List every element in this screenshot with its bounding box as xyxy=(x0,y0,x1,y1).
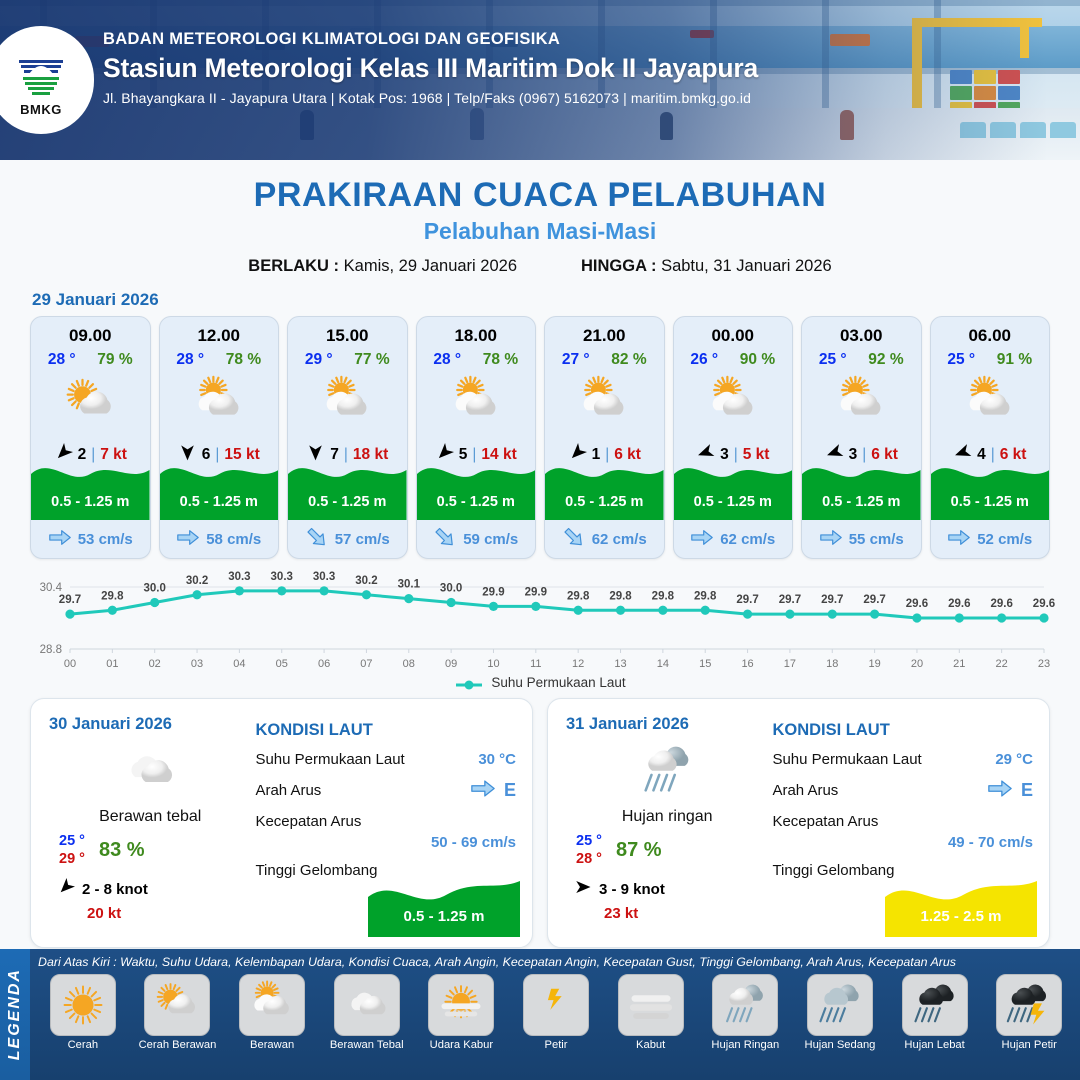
day-temp-range: 25 ° 29 ° xyxy=(59,832,85,868)
svg-text:30.3: 30.3 xyxy=(228,571,250,583)
station-address: Jl. Bhayangkara II - Jayapura Utara | Ko… xyxy=(103,90,758,106)
card-time: 21.00 xyxy=(545,326,664,346)
sst-chart: 30.428.800010203040506070809101112131415… xyxy=(22,571,1058,671)
day-humidity: 87 % xyxy=(616,839,662,862)
current-direction-row: Arah Arus E xyxy=(255,779,516,802)
legend-item: Berawan Tebal xyxy=(322,974,412,1051)
header-text-block: BADAN METEOROLOGI KLIMATOLOGI DAN GEOFIS… xyxy=(103,30,758,106)
svg-text:30.2: 30.2 xyxy=(186,575,208,587)
card-current-row: 53 cm/s xyxy=(31,529,150,550)
sst-row: Suhu Permukaan Laut 29 °C xyxy=(772,751,1033,768)
current-direction-label: Arah Arus xyxy=(255,782,321,799)
legend-item: Hujan Lebat xyxy=(890,974,980,1051)
validity-row: BERLAKU : Kamis, 29 Januari 2026 HINGGA … xyxy=(0,257,1080,276)
card-temp-humidity: 26 ° 90 % xyxy=(674,351,793,369)
svg-text:29.6: 29.6 xyxy=(948,598,970,610)
svg-text:10: 10 xyxy=(487,658,499,670)
card-temp-humidity: 28 ° 78 % xyxy=(160,351,279,369)
legend-item: Cerah Berawan xyxy=(133,974,223,1051)
svg-text:08: 08 xyxy=(403,658,415,670)
card-temperature: 25 ° xyxy=(947,351,975,369)
sst-row: Suhu Permukaan Laut 30 °C xyxy=(255,751,516,768)
legend-icon-cerah-icon xyxy=(50,974,116,1036)
card-current-speed: 62 cm/s xyxy=(720,531,775,548)
day-temp-row: 25 ° 29 ° 83 % xyxy=(49,832,251,868)
day-gust: 23 kt xyxy=(566,905,768,922)
day-wind-row: 2 - 8 knot xyxy=(49,878,251,900)
day-sea-conditions: KONDISI LAUT Suhu Permukaan Laut 29 °C A… xyxy=(768,699,1049,947)
card-current-row: 58 cm/s xyxy=(160,529,279,550)
legend-icon-hujan-ringan-icon xyxy=(712,974,778,1036)
agency-name: BADAN METEOROLOGI KLIMATOLOGI DAN GEOFIS… xyxy=(103,30,758,49)
current-speed-label: Kecepatan Arus xyxy=(255,813,361,830)
svg-text:00: 00 xyxy=(64,658,76,670)
card-humidity: 77 % xyxy=(354,351,389,369)
forecast-card: 12.00 28 ° 78 % 6 | 15 kt 0.5 - 1.25 m 5… xyxy=(159,316,280,559)
current-direction-arrow-icon xyxy=(433,529,457,550)
legend-icon-kabut-icon xyxy=(618,974,684,1036)
card-temperature: 28 ° xyxy=(176,351,204,369)
legend-bar: LEGENDA Dari Atas Kiri : Waktu, Suhu Uda… xyxy=(0,949,1080,1080)
sst-value: 30 °C xyxy=(478,751,516,768)
card-current-row: 62 cm/s xyxy=(674,529,793,550)
forecast-card: 21.00 27 ° 82 % 1 | 6 kt 0.5 - 1.25 m 62… xyxy=(544,316,665,559)
card-wave-height: 0.5 - 1.25 m xyxy=(31,494,150,510)
forecast-card: 00.00 26 ° 90 % 3 | 5 kt 0.5 - 1.25 m 62… xyxy=(673,316,794,559)
legend-item-label: Udara Kabur xyxy=(430,1039,493,1051)
card-humidity: 78 % xyxy=(483,351,518,369)
card-temp-humidity: 28 ° 79 % xyxy=(31,351,150,369)
current-direction-row: Arah Arus E xyxy=(772,779,1033,802)
card-current-speed: 53 cm/s xyxy=(78,531,133,548)
port-name: Pelabuhan Masi-Masi xyxy=(0,218,1080,245)
day-gust: 20 kt xyxy=(49,905,251,922)
card-time: 03.00 xyxy=(802,326,921,346)
day-wave-graphic: 1.25 - 2.5 m xyxy=(885,871,1037,937)
legend-item-label: Cerah Berawan xyxy=(139,1039,217,1051)
svg-text:11: 11 xyxy=(530,658,541,670)
legend-item-label: Berawan xyxy=(250,1039,294,1051)
legend-item-label: Hujan Sedang xyxy=(804,1039,875,1051)
forecast-card: 09.00 28 ° 79 % 2 | 7 kt 0.5 - 1.25 m 53… xyxy=(30,316,151,559)
svg-text:18: 18 xyxy=(826,658,838,670)
card-temperature: 25 ° xyxy=(819,351,847,369)
card-time: 15.00 xyxy=(288,326,407,346)
legend-icon-petir-icon xyxy=(523,974,589,1036)
current-direction-arrow-icon xyxy=(947,529,971,550)
svg-text:01: 01 xyxy=(106,658,118,670)
card-temp-humidity: 28 ° 78 % xyxy=(417,351,536,369)
card-time: 09.00 xyxy=(31,326,150,346)
current-speed-value: 50 - 69 cm/s xyxy=(255,834,516,851)
day-weather-icon xyxy=(566,740,768,802)
station-name: Stasiun Meteorologi Kelas III Maritim Do… xyxy=(103,53,758,84)
valid-until-value: Sabtu, 31 Januari 2026 xyxy=(661,257,832,275)
svg-text:30.3: 30.3 xyxy=(313,571,335,583)
chart-legend-label: Suhu Permukaan Laut xyxy=(491,675,625,690)
svg-text:07: 07 xyxy=(360,658,372,670)
forecast-card: 03.00 25 ° 92 % 3 | 6 kt 0.5 - 1.25 m 55… xyxy=(801,316,922,559)
day-wave-height: 0.5 - 1.25 m xyxy=(368,908,520,925)
bmkg-logo-mark xyxy=(13,44,69,100)
card-temperature: 26 ° xyxy=(690,351,718,369)
card-humidity: 90 % xyxy=(740,351,775,369)
forecast-card: 06.00 25 ° 91 % 4 | 6 kt 0.5 - 1.25 m 52… xyxy=(930,316,1051,559)
card-temp-humidity: 25 ° 92 % xyxy=(802,351,921,369)
card-weather-icon xyxy=(417,373,536,435)
svg-text:23: 23 xyxy=(1038,658,1050,670)
wind-direction-arrow-icon xyxy=(574,878,592,900)
svg-text:30.2: 30.2 xyxy=(355,575,377,587)
svg-text:29.9: 29.9 xyxy=(482,586,504,598)
card-wave-height: 0.5 - 1.25 m xyxy=(417,494,536,510)
legend-tab-label: LEGENDA xyxy=(6,968,24,1060)
svg-text:30.3: 30.3 xyxy=(271,571,293,583)
legend-icon-berawan-tebal-icon xyxy=(334,974,400,1036)
valid-until-label: HINGGA : xyxy=(581,257,656,275)
svg-text:21: 21 xyxy=(953,658,965,670)
svg-text:06: 06 xyxy=(318,658,330,670)
svg-text:12: 12 xyxy=(572,658,584,670)
legend-caption: Dari Atas Kiri : Waktu, Suhu Udara, Kele… xyxy=(38,955,1074,969)
svg-text:29.8: 29.8 xyxy=(567,590,590,602)
card-temperature: 28 ° xyxy=(433,351,461,369)
current-speed-value: 49 - 70 cm/s xyxy=(772,834,1033,851)
card-weather-icon xyxy=(288,373,407,435)
forecast-card: 15.00 29 ° 77 % 7 | 18 kt 0.5 - 1.25 m 5… xyxy=(287,316,408,559)
current-direction-arrow-icon xyxy=(562,529,586,550)
chart-legend-marker xyxy=(454,678,484,688)
card-current-speed: 58 cm/s xyxy=(206,531,261,548)
legend-icon-cerah-berawan-icon xyxy=(144,974,210,1036)
card-wave-height: 0.5 - 1.25 m xyxy=(802,494,921,510)
legend-icon-hujan-lebat-icon xyxy=(902,974,968,1036)
sst-label: Suhu Permukaan Laut xyxy=(255,751,404,768)
legend-item-label: Hujan Petir xyxy=(1002,1039,1057,1051)
legend-item-label: Hujan Ringan xyxy=(711,1039,779,1051)
card-current-row: 57 cm/s xyxy=(288,529,407,550)
current-direction-value: E xyxy=(504,780,516,801)
legend-item-label: Cerah xyxy=(68,1039,98,1051)
legend-item-label: Kabut xyxy=(636,1039,665,1051)
card-weather-icon xyxy=(802,373,921,435)
svg-text:17: 17 xyxy=(784,658,796,670)
card-weather-icon xyxy=(160,373,279,435)
card-wave-height: 0.5 - 1.25 m xyxy=(545,494,664,510)
svg-text:29.9: 29.9 xyxy=(525,586,547,598)
card-weather-icon xyxy=(674,373,793,435)
chart-legend: Suhu Permukaan Laut xyxy=(0,675,1080,690)
current-direction-arrow-icon xyxy=(305,529,329,550)
svg-text:29.8: 29.8 xyxy=(652,590,675,602)
svg-text:04: 04 xyxy=(233,658,245,670)
day-temp-min: 25 ° xyxy=(576,832,602,850)
day-temp-range: 25 ° 28 ° xyxy=(576,832,602,868)
card-weather-icon xyxy=(545,373,664,435)
svg-text:03: 03 xyxy=(191,658,203,670)
legend-icon-berawan-icon xyxy=(239,974,305,1036)
day-humidity: 83 % xyxy=(99,839,145,862)
card-time: 18.00 xyxy=(417,326,536,346)
day-condition: Hujan ringan xyxy=(566,808,768,826)
legend-tab: LEGENDA xyxy=(0,949,30,1080)
svg-text:05: 05 xyxy=(276,658,288,670)
day-left-column: 30 Januari 2026 Berawan tebal 25 ° 29 ° … xyxy=(31,699,251,947)
current-direction-arrow-icon xyxy=(690,529,714,550)
wave-height-label: Tinggi Gelombang xyxy=(255,862,377,879)
svg-text:29.7: 29.7 xyxy=(736,594,758,606)
legend-item: Cerah xyxy=(38,974,128,1051)
daily-summary-card: 30 Januari 2026 Berawan tebal 25 ° 29 ° … xyxy=(30,698,533,948)
valid-until: HINGGA : Sabtu, 31 Januari 2026 xyxy=(581,257,832,276)
card-humidity: 79 % xyxy=(97,351,132,369)
svg-text:29.7: 29.7 xyxy=(863,594,885,606)
legend-item: Petir xyxy=(511,974,601,1051)
card-wave-height: 0.5 - 1.25 m xyxy=(931,494,1050,510)
sea-conditions-title: KONDISI LAUT xyxy=(255,721,516,740)
wind-direction-arrow-icon xyxy=(57,878,75,900)
sea-conditions-title: KONDISI LAUT xyxy=(772,721,1033,740)
svg-text:16: 16 xyxy=(741,658,753,670)
svg-text:29.8: 29.8 xyxy=(694,590,717,602)
page-header: BMKG BADAN METEOROLOGI KLIMATOLOGI DAN G… xyxy=(0,0,1080,160)
svg-text:29.6: 29.6 xyxy=(990,598,1012,610)
card-current-row: 52 cm/s xyxy=(931,529,1050,550)
current-speed-row: Kecepatan Arus xyxy=(772,813,1033,830)
page-title: PRAKIRAAN CUACA PELABUHAN xyxy=(0,176,1080,215)
card-temp-humidity: 29 ° 77 % xyxy=(288,351,407,369)
legend-body: Dari Atas Kiri : Waktu, Suhu Udara, Kele… xyxy=(30,949,1080,1080)
card-current-row: 62 cm/s xyxy=(545,529,664,550)
current-direction-value-group: E xyxy=(987,779,1033,802)
card-current-speed: 62 cm/s xyxy=(592,531,647,548)
card-humidity: 92 % xyxy=(868,351,903,369)
card-temperature: 28 ° xyxy=(48,351,76,369)
day-wind-range: 2 - 8 knot xyxy=(82,881,148,898)
day-weather-icon xyxy=(49,740,251,802)
svg-text:15: 15 xyxy=(699,658,711,670)
current-speed-label: Kecepatan Arus xyxy=(772,813,878,830)
card-time: 06.00 xyxy=(931,326,1050,346)
day-condition: Berawan tebal xyxy=(49,808,251,826)
day-wave-height: 1.25 - 2.5 m xyxy=(885,908,1037,925)
card-humidity: 78 % xyxy=(226,351,261,369)
svg-text:13: 13 xyxy=(614,658,626,670)
current-direction-arrow-icon xyxy=(48,529,72,550)
day-temp-row: 25 ° 28 ° 87 % xyxy=(566,832,768,868)
legend-icon-hujan-petir-icon xyxy=(996,974,1062,1036)
current-direction-arrow-icon xyxy=(176,529,200,550)
forecast-card-list: 09.00 28 ° 79 % 2 | 7 kt 0.5 - 1.25 m 53… xyxy=(0,316,1080,559)
svg-text:29.6: 29.6 xyxy=(1033,598,1055,610)
svg-text:30.0: 30.0 xyxy=(144,583,166,595)
card-temperature: 29 ° xyxy=(305,351,333,369)
svg-text:20: 20 xyxy=(911,658,923,670)
valid-from-label: BERLAKU : xyxy=(248,257,339,275)
card-humidity: 91 % xyxy=(997,351,1032,369)
day-left-column: 31 Januari 2026 Hujan ringan 25 ° 28 ° 8… xyxy=(548,699,768,947)
card-wave-height: 0.5 - 1.25 m xyxy=(288,494,407,510)
svg-text:29.8: 29.8 xyxy=(609,590,632,602)
svg-text:29.7: 29.7 xyxy=(779,594,801,606)
day-wind-row: 3 - 9 knot xyxy=(566,878,768,900)
day-wave-graphic: 0.5 - 1.25 m xyxy=(368,871,520,937)
legend-item: Berawan xyxy=(227,974,317,1051)
card-current-speed: 59 cm/s xyxy=(463,531,518,548)
day-wind-range: 3 - 9 knot xyxy=(599,881,665,898)
day-date: 30 Januari 2026 xyxy=(49,715,251,734)
legend-item: Kabut xyxy=(606,974,696,1051)
svg-text:29.8: 29.8 xyxy=(101,590,124,602)
card-current-speed: 57 cm/s xyxy=(335,531,390,548)
current-direction-label: Arah Arus xyxy=(772,782,838,799)
svg-text:22: 22 xyxy=(996,658,1008,670)
current-direction-arrow-icon xyxy=(470,779,496,802)
svg-text:30.4: 30.4 xyxy=(40,582,63,594)
card-weather-icon xyxy=(931,373,1050,435)
legend-item: Hujan Petir xyxy=(984,974,1074,1051)
day-temp-min: 25 ° xyxy=(59,832,85,850)
legend-item-label: Petir xyxy=(545,1039,568,1051)
sst-label: Suhu Permukaan Laut xyxy=(772,751,921,768)
valid-from: BERLAKU : Kamis, 29 Januari 2026 xyxy=(248,257,517,276)
card-wave-height: 0.5 - 1.25 m xyxy=(160,494,279,510)
legend-item: Hujan Sedang xyxy=(795,974,885,1051)
svg-text:19: 19 xyxy=(868,658,880,670)
bmkg-logo-text: BMKG xyxy=(20,102,62,117)
current-speed-row: Kecepatan Arus xyxy=(255,813,516,830)
card-time: 12.00 xyxy=(160,326,279,346)
card-temperature: 27 ° xyxy=(562,351,590,369)
svg-text:09: 09 xyxy=(445,658,457,670)
svg-text:29.7: 29.7 xyxy=(821,594,843,606)
svg-text:29.6: 29.6 xyxy=(906,598,928,610)
current-direction-value: E xyxy=(1021,780,1033,801)
card-current-speed: 55 cm/s xyxy=(849,531,904,548)
svg-text:28.8: 28.8 xyxy=(40,644,62,656)
card-weather-icon xyxy=(31,373,150,435)
legend-item: Udara Kabur xyxy=(417,974,507,1051)
card-temp-humidity: 25 ° 91 % xyxy=(931,351,1050,369)
svg-text:14: 14 xyxy=(657,658,669,670)
current-direction-value-group: E xyxy=(470,779,516,802)
card-wave-height: 0.5 - 1.25 m xyxy=(674,494,793,510)
forecast-date: 29 Januari 2026 xyxy=(32,290,1080,310)
current-direction-arrow-icon xyxy=(987,779,1013,802)
svg-text:30.1: 30.1 xyxy=(398,579,421,591)
card-humidity: 82 % xyxy=(611,351,646,369)
svg-text:29.7: 29.7 xyxy=(59,594,81,606)
day-temp-max: 28 ° xyxy=(576,850,602,868)
legend-item-list: Cerah Cerah Berawan Berawan Berawan Teba… xyxy=(38,974,1074,1051)
legend-icon-udara-kabur-icon xyxy=(428,974,494,1036)
wave-height-label: Tinggi Gelombang xyxy=(772,862,894,879)
day-temp-max: 29 ° xyxy=(59,850,85,868)
card-current-row: 59 cm/s xyxy=(417,529,536,550)
valid-from-value: Kamis, 29 Januari 2026 xyxy=(344,257,517,275)
card-current-speed: 52 cm/s xyxy=(977,531,1032,548)
svg-text:02: 02 xyxy=(149,658,161,670)
card-current-row: 55 cm/s xyxy=(802,529,921,550)
day-sea-conditions: KONDISI LAUT Suhu Permukaan Laut 30 °C A… xyxy=(251,699,532,947)
legend-item: Hujan Ringan xyxy=(700,974,790,1051)
sst-value: 29 °C xyxy=(995,751,1033,768)
card-time: 00.00 xyxy=(674,326,793,346)
daily-summary-list: 30 Januari 2026 Berawan tebal 25 ° 29 ° … xyxy=(0,690,1080,948)
svg-text:30.0: 30.0 xyxy=(440,583,462,595)
day-date: 31 Januari 2026 xyxy=(566,715,768,734)
legend-item-label: Berawan Tebal xyxy=(330,1039,404,1051)
legend-item-label: Hujan Lebat xyxy=(904,1039,964,1051)
forecast-card: 18.00 28 ° 78 % 5 | 14 kt 0.5 - 1.25 m 5… xyxy=(416,316,537,559)
daily-summary-card: 31 Januari 2026 Hujan ringan 25 ° 28 ° 8… xyxy=(547,698,1050,948)
current-direction-arrow-icon xyxy=(819,529,843,550)
legend-icon-hujan-sedang-icon xyxy=(807,974,873,1036)
card-temp-humidity: 27 ° 82 % xyxy=(545,351,664,369)
